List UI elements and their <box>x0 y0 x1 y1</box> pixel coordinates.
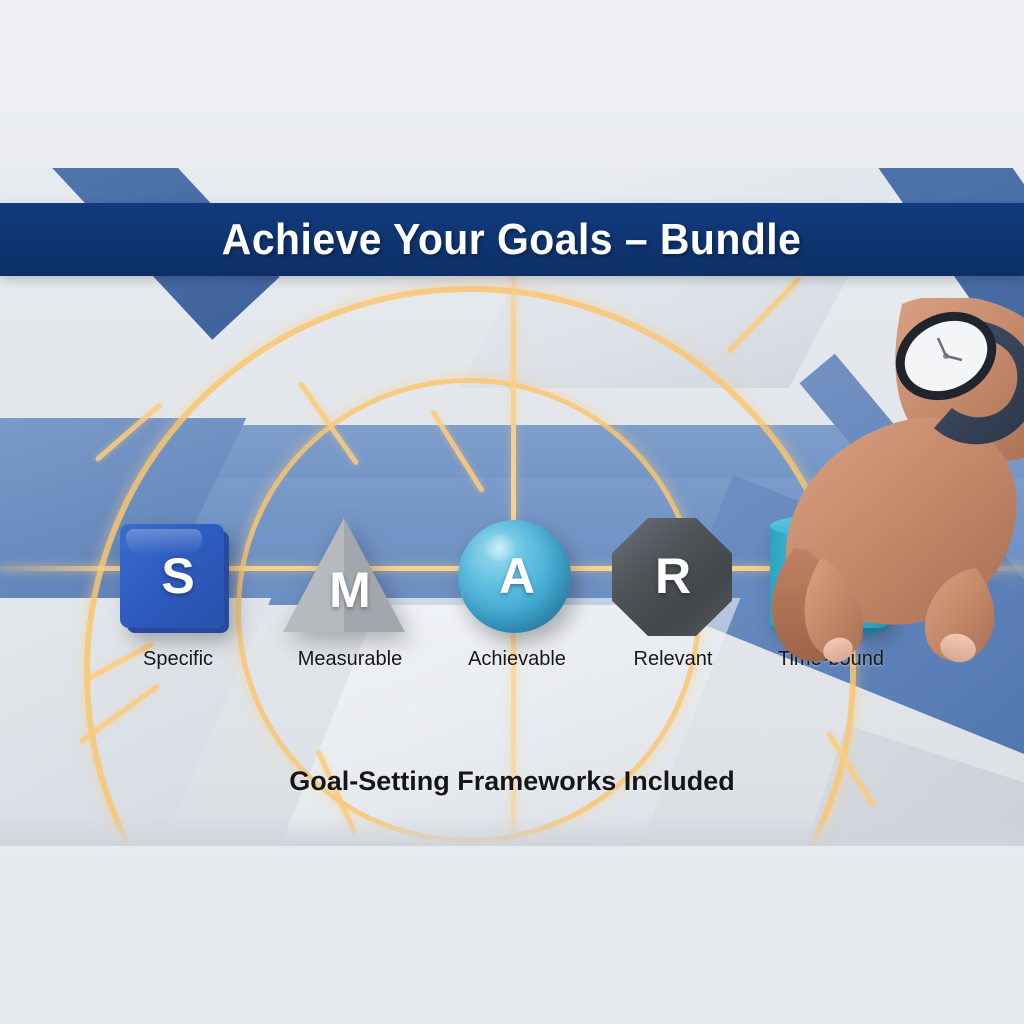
shape-slot: M <box>265 516 435 636</box>
octagon-shape-icon <box>612 518 732 636</box>
banner-title: Achieve Your Goals – Bundle <box>222 215 802 265</box>
poster-canvas: S Specific M Measurable A Achievable <box>0 0 1024 1024</box>
subtitle-text: Goal-Setting Frameworks Included <box>289 766 735 796</box>
smart-label-relevant: Relevant <box>588 648 758 671</box>
triangle-highlight <box>283 518 344 632</box>
smart-item-achievable[interactable]: A Achievable <box>432 516 602 671</box>
smart-label-achievable: Achievable <box>432 648 602 671</box>
smart-label-measurable: Measurable <box>265 648 435 671</box>
shape-slot: A <box>432 516 602 636</box>
shape-slot: T <box>746 516 916 636</box>
smart-label-time-bound: Time-bound <box>746 648 916 671</box>
subtitle: Goal-Setting Frameworks Included <box>0 766 1024 797</box>
smart-item-relevant[interactable]: R Relevant <box>588 516 758 671</box>
smart-label-specific: Specific <box>93 648 263 671</box>
shape-slot: S <box>93 516 263 636</box>
shape-slot: R <box>588 516 758 636</box>
title-banner: Achieve Your Goals – Bundle <box>0 203 1024 276</box>
cube-shape-icon <box>120 524 224 628</box>
sphere-shape-icon <box>458 520 571 633</box>
smart-item-measurable[interactable]: M Measurable <box>265 516 435 671</box>
cylinder-shape-icon <box>770 524 888 628</box>
smart-item-specific[interactable]: S Specific <box>93 516 263 671</box>
smart-item-time-bound[interactable]: T Time-bound <box>746 516 916 671</box>
